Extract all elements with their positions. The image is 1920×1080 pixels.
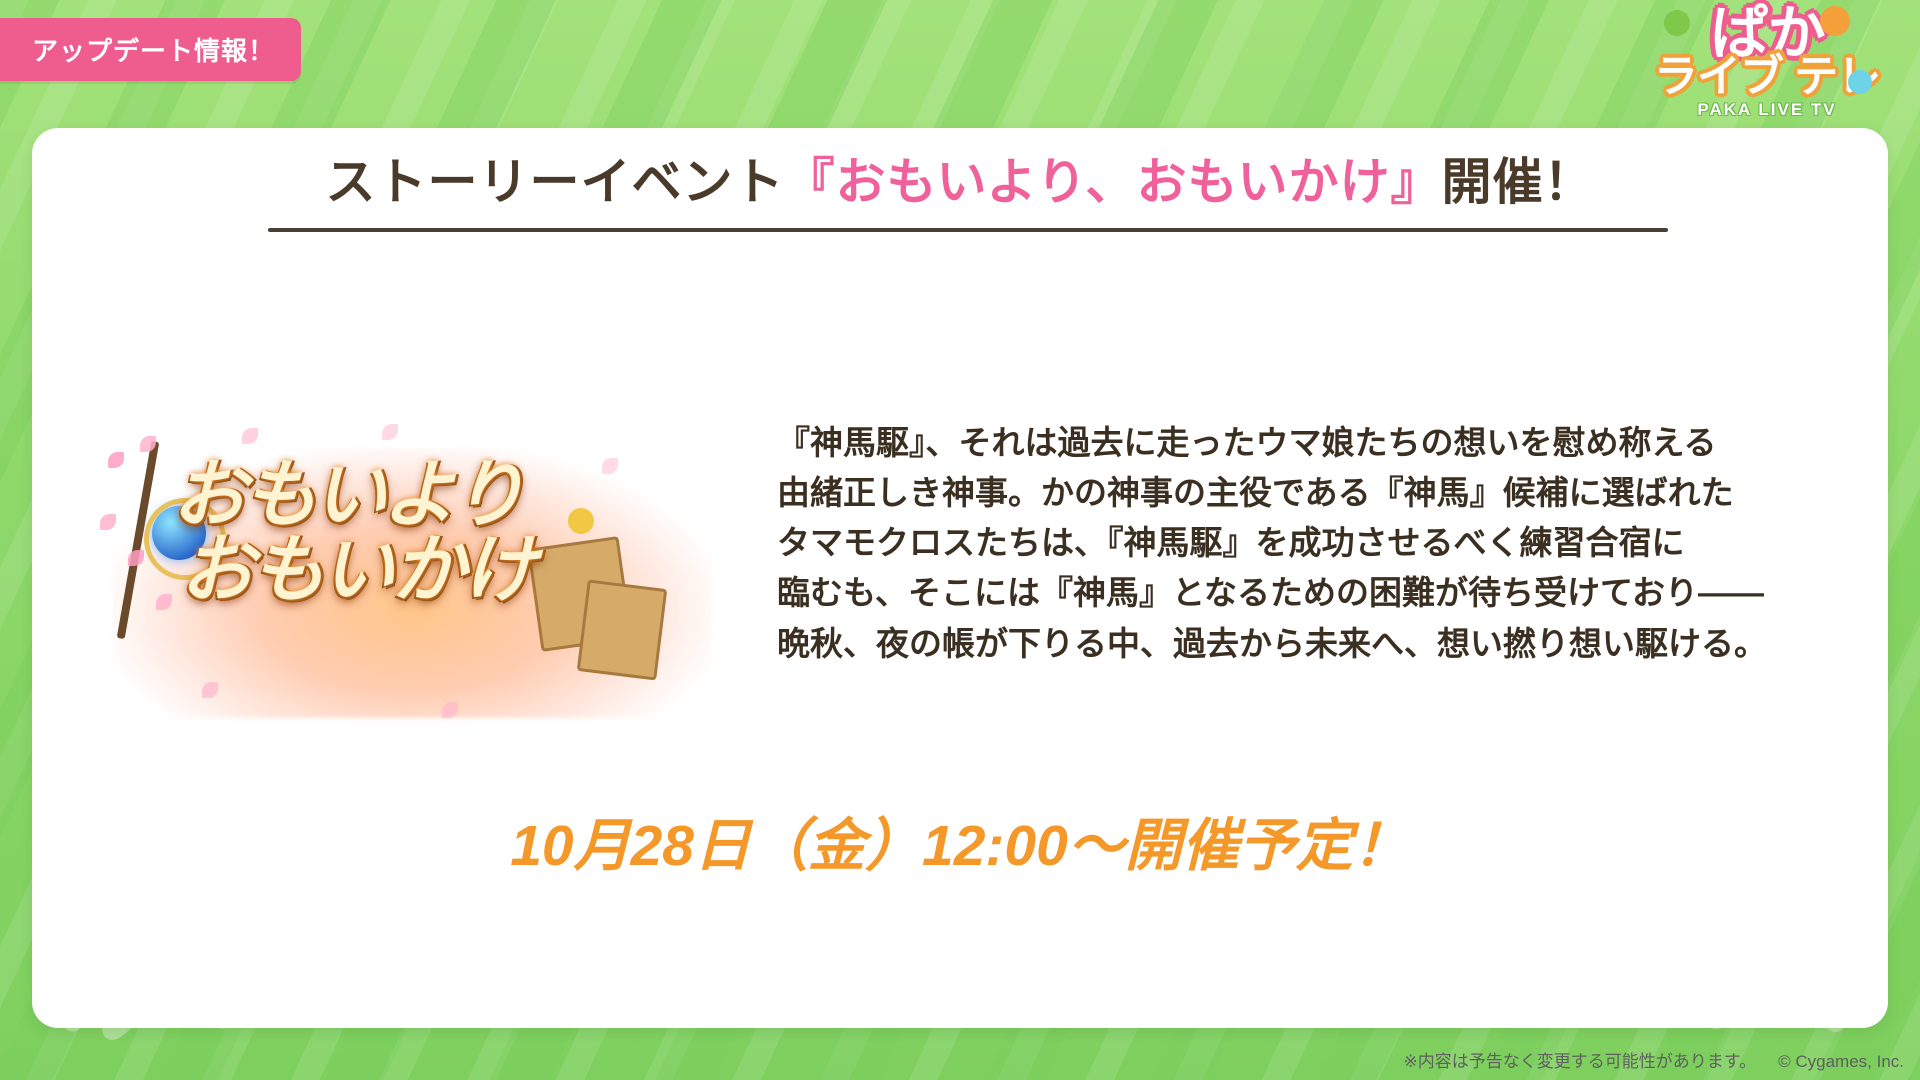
- event-date-text: 10月28日（金）12:00〜開催予定！: [32, 800, 1888, 882]
- description-line: 臨むも、そこには『神馬』となるための困難が待ち受けており――: [777, 568, 1847, 618]
- title-underline: [268, 228, 1668, 232]
- footer-notes: ※内容は予告なく変更する可能性があります。 © Cygames, Inc.: [1404, 1047, 1904, 1072]
- content-panel: ストーリーイベント『おもいより、おもいかけ』開催！ おもいより おもいかけ 『神…: [32, 128, 1888, 1028]
- logo-line3: PAKA LIVE TV: [1652, 100, 1882, 120]
- headline-suffix: 開催！: [1442, 154, 1595, 210]
- description-line: 晩秋、夜の帳が下りる中、過去から未来へ、想い撚り想い駆ける。: [777, 619, 1847, 669]
- event-art-line1: おもいより: [172, 458, 642, 533]
- event-art-line2: おもいかけ: [180, 533, 642, 608]
- description-line: タマモクロスたちは、『神馬駆』を成功させるべく練習合宿に: [777, 518, 1847, 568]
- headline-prefix: ストーリーイベント: [326, 154, 785, 210]
- event-art-title: おもいより おもいかけ: [172, 458, 642, 609]
- logo-line2: ライブ テレ: [1652, 55, 1882, 99]
- headline-event-title: 『おもいより、おもいかけ』: [785, 154, 1442, 210]
- petal-icon: [242, 428, 258, 444]
- event-description: 『神馬駆』、それは過去に走ったウマ娘たちの想いを慰め称える 由緒正しき神事。かの…: [777, 418, 1847, 669]
- description-line: 由緒正しき神事。かの神事の主役である『神馬』候補に選ばれた: [777, 468, 1847, 518]
- copyright-note: © Cygames, Inc.: [1778, 1052, 1904, 1072]
- update-info-ribbon: アップデート情報！: [0, 18, 301, 81]
- description-line: 『神馬駆』、それは過去に走ったウマ娘たちの想いを慰め称える: [777, 418, 1847, 468]
- logo-dot-blue: [1848, 70, 1872, 94]
- logo-dot-green: [1664, 10, 1690, 36]
- event-logo-art: おもいより おもいかけ: [82, 418, 742, 748]
- disclaimer-note: ※内容は予告なく変更する可能性があります。: [1404, 1047, 1757, 1072]
- logo-dot-orange: [1820, 6, 1850, 36]
- paka-live-tv-logo: ぱか ライブ テレ PAKA LIVE TV: [1652, 6, 1882, 136]
- page-title: ストーリーイベント『おもいより、おもいかけ』開催！: [32, 142, 1888, 214]
- petal-icon: [382, 424, 398, 440]
